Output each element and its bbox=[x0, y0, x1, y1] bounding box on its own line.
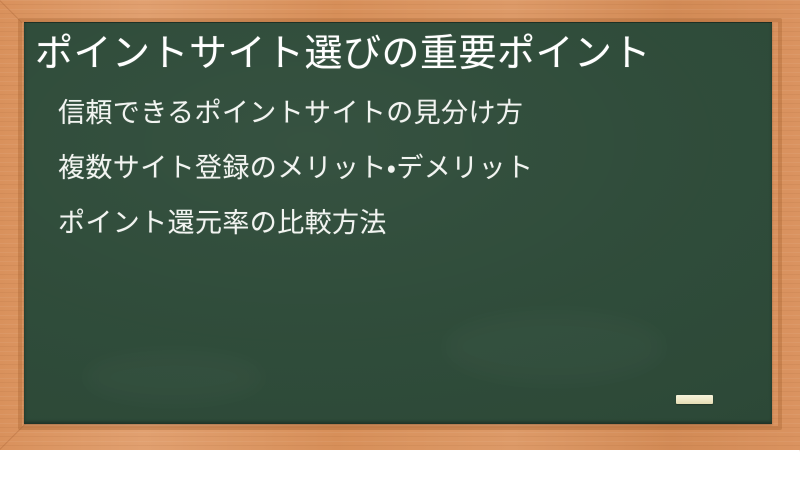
frame-miter-top-left bbox=[0, 0, 23, 23]
slide-bullet-list: 信頼できるポイントサイトの見分け方 複数サイト登録のメリット・デメリット ポイン… bbox=[58, 100, 748, 265]
frame-miter-bottom-left bbox=[0, 422, 27, 450]
chalk-smudge bbox=[84, 352, 264, 402]
chalk-smudge bbox=[444, 312, 664, 382]
chalkboard-surface: ポイントサイト選びの重要ポイント 信頼できるポイントサイトの見分け方 複数サイト… bbox=[24, 22, 772, 424]
bullet-item-2: 複数サイト登録のメリット・デメリット bbox=[58, 155, 748, 182]
chalk-stick-icon bbox=[676, 395, 713, 404]
bullet-item-1: 信頼できるポイントサイトの見分け方 bbox=[58, 100, 748, 127]
chalkboard-wooden-frame: ポイントサイト選びの重要ポイント 信頼できるポイントサイトの見分け方 複数サイト… bbox=[0, 0, 800, 450]
bullet-item-3: ポイント還元率の比較方法 bbox=[58, 210, 748, 237]
slide-title: ポイントサイト選びの重要ポイント bbox=[35, 32, 755, 78]
